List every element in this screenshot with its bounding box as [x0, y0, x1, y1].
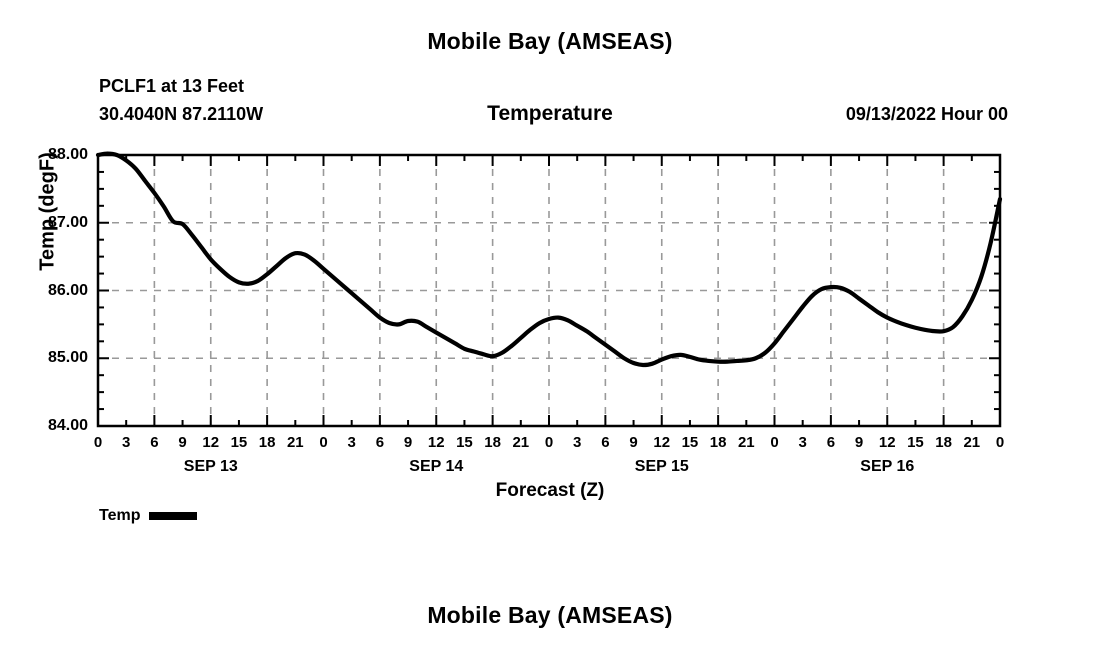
x-tick-label: 21	[282, 434, 308, 451]
x-tick-label: 6	[367, 434, 393, 451]
day-label: SEP 15	[602, 458, 722, 476]
x-tick-label: 15	[451, 434, 477, 451]
legend-swatch-temp	[149, 512, 197, 520]
x-tick-label: 9	[395, 434, 421, 451]
y-tick-label: 88.00	[16, 146, 88, 164]
x-tick-label: 21	[733, 434, 759, 451]
x-tick-label: 12	[649, 434, 675, 451]
x-tick-label: 3	[564, 434, 590, 451]
x-tick-label: 12	[198, 434, 224, 451]
x-tick-label: 0	[987, 434, 1013, 451]
x-tick-label: 21	[959, 434, 985, 451]
x-tick-label: 15	[902, 434, 928, 451]
legend-label-temp: Temp	[99, 507, 140, 525]
y-tick-label: 87.00	[16, 214, 88, 232]
x-tick-label: 0	[311, 434, 337, 451]
x-tick-label: 9	[170, 434, 196, 451]
x-tick-label: 3	[339, 434, 365, 451]
x-tick-label: 18	[931, 434, 957, 451]
x-tick-label: 0	[762, 434, 788, 451]
x-tick-label: 21	[508, 434, 534, 451]
x-tick-label: 15	[226, 434, 252, 451]
x-tick-label: 9	[846, 434, 872, 451]
x-tick-label: 9	[621, 434, 647, 451]
chart-svg	[0, 0, 1100, 650]
chart-page: Mobile Bay (AMSEAS) PCLF1 at 13 Feet 30.…	[0, 0, 1100, 650]
y-tick-label: 85.00	[16, 349, 88, 367]
x-tick-label: 6	[818, 434, 844, 451]
x-tick-label: 6	[141, 434, 167, 451]
page-title-bottom: Mobile Bay (AMSEAS)	[0, 602, 1100, 629]
x-tick-label: 15	[677, 434, 703, 451]
x-axis-title: Forecast (Z)	[0, 480, 1100, 502]
day-label: SEP 14	[376, 458, 496, 476]
x-tick-label: 0	[536, 434, 562, 451]
x-tick-label: 3	[113, 434, 139, 451]
x-tick-label: 18	[480, 434, 506, 451]
x-tick-label: 12	[423, 434, 449, 451]
y-tick-label: 86.00	[16, 282, 88, 300]
x-tick-label: 6	[592, 434, 618, 451]
x-tick-label: 0	[85, 434, 111, 451]
day-label: SEP 16	[827, 458, 947, 476]
plot-area: Temp (degF) 84.0085.0086.0087.0088.00 03…	[0, 0, 1100, 650]
legend: Temp	[99, 507, 197, 525]
x-tick-label: 18	[705, 434, 731, 451]
x-tick-label: 3	[790, 434, 816, 451]
y-tick-label: 84.00	[16, 417, 88, 435]
day-label: SEP 13	[151, 458, 271, 476]
x-tick-label: 18	[254, 434, 280, 451]
x-tick-label: 12	[874, 434, 900, 451]
